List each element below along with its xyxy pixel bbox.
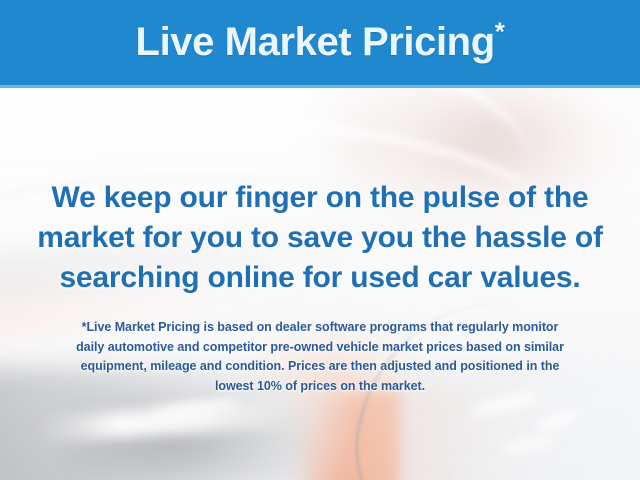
disclaimer-line: equipment, mileage and condition. Prices… (22, 357, 618, 377)
headline-line: market for you to save you the hassle of (20, 218, 620, 258)
header-banner: Live Market Pricing* (0, 0, 640, 88)
live-market-pricing-graphic: Live Market Pricing* We keep our finger … (0, 0, 640, 480)
headline-line: We keep our finger on the pulse of the (20, 178, 620, 218)
disclaimer-text: *Live Market Pricing is based on dealer … (22, 318, 618, 396)
disclaimer-line: lowest 10% of prices on the market. (22, 377, 618, 397)
page-title-asterisk: * (495, 17, 505, 47)
disclaimer-line: daily automotive and competitor pre-owne… (22, 338, 618, 358)
page-title-text: Live Market Pricing (136, 20, 495, 64)
disclaimer-line: *Live Market Pricing is based on dealer … (22, 318, 618, 338)
headline: We keep our finger on the pulse of the m… (20, 178, 620, 298)
page-title: Live Market Pricing* (136, 22, 505, 62)
headline-line: searching online for used car values. (20, 258, 620, 298)
main-content: We keep our finger on the pulse of the m… (0, 88, 640, 480)
